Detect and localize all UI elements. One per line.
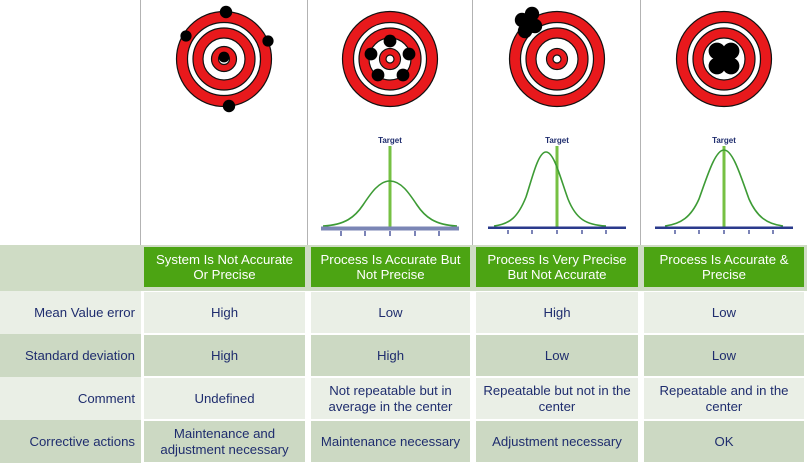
row-label: Mean Value error	[0, 291, 141, 334]
target-annotation: Target	[712, 136, 736, 145]
header-cell-3: Process Is Very Precise But Not Accurate	[473, 245, 641, 291]
classification-header-row: System Is Not Accurate Or Precise Proces…	[0, 245, 807, 291]
cell-value: High	[311, 335, 470, 376]
row-label: Standard deviation	[0, 334, 141, 377]
shot-marks	[709, 43, 740, 75]
classification-label-2: Process Is Accurate But Not Precise	[311, 247, 470, 287]
table-row-corrective-actions: Corrective actions Maintenance and adjus…	[0, 420, 807, 463]
axis-ticks	[675, 230, 773, 234]
row-label-cell: Corrective actions	[0, 420, 141, 463]
cell-value: High	[144, 292, 305, 333]
table-row-mean-value-error: Mean Value error High Low High Low	[0, 291, 807, 334]
row-label: Corrective actions	[0, 420, 141, 463]
cell-value: Maintenance necessary	[311, 421, 470, 462]
cell-value: Not repeatable but in average in the cen…	[311, 378, 470, 419]
data-cell: Maintenance and adjustment necessary	[141, 420, 308, 463]
curve-cell-4: Target	[641, 118, 807, 245]
axis-ticks	[341, 231, 439, 236]
target-tight-cluster-center	[669, 5, 779, 113]
data-cell: High	[141, 291, 308, 334]
cell-value: Undefined	[144, 378, 305, 419]
cell-value: Maintenance and adjustment necessary	[144, 421, 305, 462]
target-cell-4	[641, 0, 807, 118]
curves-row-label-cell	[0, 118, 141, 245]
cell-value: Adjustment necessary	[476, 421, 638, 462]
data-cell: High	[308, 334, 473, 377]
distribution-curve-narrow-centered: Target	[649, 125, 799, 245]
row-label-cell: Standard deviation	[0, 334, 141, 377]
cell-value: High	[144, 335, 305, 376]
target-tight-cluster-offset	[502, 5, 612, 113]
distribution-curve-narrow-offset: Target	[482, 125, 632, 245]
row-label-cell: Mean Value error	[0, 291, 141, 334]
axis-bar	[655, 227, 793, 230]
row-label: Comment	[0, 377, 141, 420]
header-cell-2: Process Is Accurate But Not Precise	[308, 245, 473, 291]
table-row-standard-deviation: Standard deviation High High Low Low	[0, 334, 807, 377]
classification-label-4: Process Is Accurate & Precise	[644, 247, 804, 287]
target-cell-2	[308, 0, 473, 118]
data-cell: Low	[641, 334, 807, 377]
classification-label-1: System Is Not Accurate Or Precise	[144, 247, 305, 287]
data-cell: Low	[473, 334, 641, 377]
header-cell-4: Process Is Accurate & Precise	[641, 245, 807, 291]
data-cell: High	[473, 291, 641, 334]
cell-value: Low	[644, 335, 804, 376]
accuracy-precision-table: Target Target	[0, 0, 807, 463]
data-cell: Undefined	[141, 377, 308, 420]
axis-ticks	[508, 230, 606, 234]
table-row-comment: Comment Undefined Not repeatable but in …	[0, 377, 807, 420]
cell-value: Low	[311, 292, 470, 333]
curve-placeholder-empty	[149, 125, 299, 245]
curve-cell-2: Target	[308, 118, 473, 245]
gaussian-curve	[494, 152, 606, 226]
target-annotation: Target	[545, 136, 569, 145]
cell-value: Repeatable but not in the center	[476, 378, 638, 419]
cell-value: Low	[476, 335, 638, 376]
data-cell: Low	[308, 291, 473, 334]
targets-row	[0, 0, 807, 118]
curve-cell-1-empty	[141, 118, 308, 245]
cell-value: OK	[644, 421, 804, 462]
target-ring-around-center	[335, 5, 445, 113]
data-cell: Not repeatable but in average in the cen…	[308, 377, 473, 420]
cell-value: Low	[644, 292, 804, 333]
targets-row-label-cell	[0, 0, 141, 118]
curves-row: Target Target	[0, 118, 807, 245]
target-scattered-off-center	[169, 5, 279, 113]
target-annotation: Target	[378, 136, 402, 145]
data-cell: Repeatable but not in the center	[473, 377, 641, 420]
cell-value: Repeatable and in the center	[644, 378, 804, 419]
data-cell: OK	[641, 420, 807, 463]
header-cell-1: System Is Not Accurate Or Precise	[141, 245, 308, 291]
data-cell: Low	[641, 291, 807, 334]
data-cell: High	[141, 334, 308, 377]
axis-bar	[321, 227, 459, 231]
data-cell: Adjustment necessary	[473, 420, 641, 463]
curve-cell-3: Target	[473, 118, 641, 245]
cell-value: High	[476, 292, 638, 333]
target-cell-3	[473, 0, 641, 118]
header-row-label-cell	[0, 245, 141, 291]
classification-label-3: Process Is Very Precise But Not Accurate	[476, 247, 638, 287]
axis-bar	[488, 227, 626, 230]
distribution-curve-wide-centered: Target	[315, 125, 465, 245]
data-cell: Repeatable and in the center	[641, 377, 807, 420]
data-cell: Maintenance necessary	[308, 420, 473, 463]
row-label-cell: Comment	[0, 377, 141, 420]
target-cell-1	[141, 0, 308, 118]
